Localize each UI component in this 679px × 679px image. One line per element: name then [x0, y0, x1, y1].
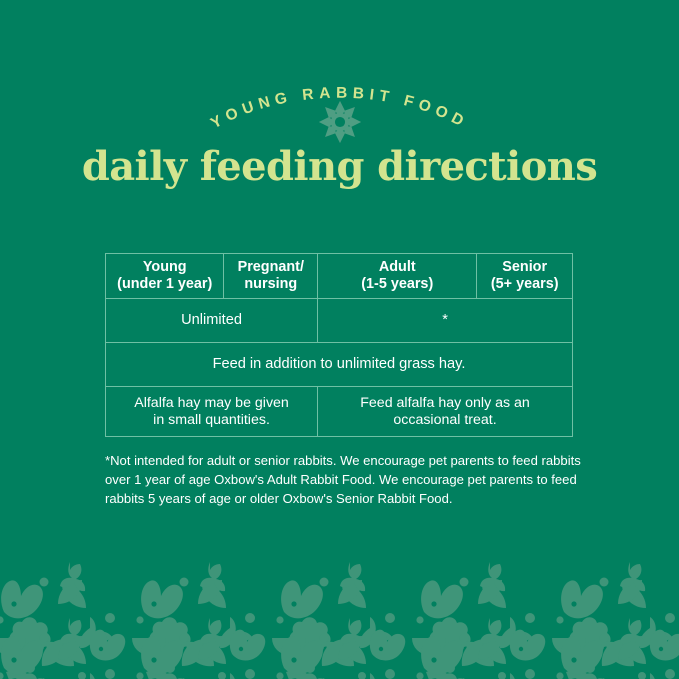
column-header-senior-line1: Senior [491, 259, 559, 276]
column-header-pregnant: Pregnant/ nursing [223, 254, 317, 298]
column-header-young: Young (under 1 year) [106, 254, 223, 298]
cell-asterisk: * [317, 299, 572, 342]
page-title: daily feeding directions [0, 147, 679, 187]
table-header-row: Young (under 1 year) Pregnant/ nursing A… [106, 254, 572, 298]
column-header-young-line1: Young [117, 259, 212, 276]
footnote-text: *Not intended for adult or senior rabbit… [105, 451, 587, 509]
feeding-directions-poster: YOUNG RABBIT FOOD daily [0, 0, 679, 679]
column-header-adult-line1: Adult [361, 259, 433, 276]
cell-alfalfa-young: Alfalfa hay may be given in small quanti… [106, 387, 317, 436]
cell-alfalfa-adult: Feed alfalfa hay only as an occasional t… [317, 387, 572, 436]
column-header-pregnant-line2: nursing [238, 276, 304, 293]
column-header-adult: Adult (1-5 years) [317, 254, 476, 298]
cell-unlimited: Unlimited [106, 299, 317, 342]
feeding-table: Young (under 1 year) Pregnant/ nursing A… [105, 253, 573, 437]
botanical-rabbit-pattern [0, 562, 679, 679]
column-header-young-line2: (under 1 year) [117, 276, 212, 293]
column-header-pregnant-line1: Pregnant/ [238, 259, 304, 276]
column-header-adult-line2: (1-5 years) [361, 276, 433, 293]
cell-grass-hay-note: Feed in addition to unlimited grass hay. [106, 343, 572, 386]
rosette-flower-icon [317, 99, 363, 145]
cell-alfalfa-adult-line1: Feed alfalfa hay only as an [360, 395, 530, 411]
table-row: Feed in addition to unlimited grass hay. [106, 342, 572, 386]
cell-alfalfa-adult-line2: occasional treat. [360, 412, 530, 428]
column-header-senior: Senior (5+ years) [476, 254, 572, 298]
cell-alfalfa-young-line1: Alfalfa hay may be given [134, 395, 289, 411]
cell-alfalfa-young-line2: in small quantities. [134, 412, 289, 428]
column-header-senior-line2: (5+ years) [491, 276, 559, 293]
table-row: Unlimited * [106, 298, 572, 342]
table-row: Alfalfa hay may be given in small quanti… [106, 386, 572, 436]
